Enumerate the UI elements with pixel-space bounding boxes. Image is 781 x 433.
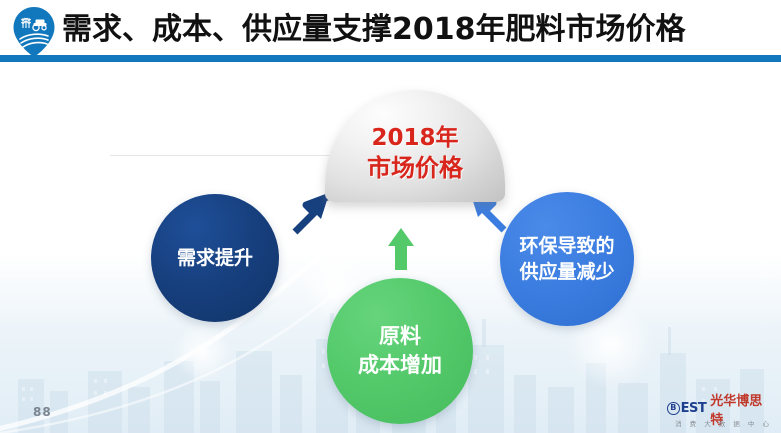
agriculture-map-pin-icon (12, 6, 56, 58)
brand-logo: B EST 光华博思特 消 费 大 数 据 中 心 (667, 400, 773, 427)
node-supply[interactable]: 环保导致的 供应量减少 (500, 192, 634, 326)
node-supply-label-1: 环保导致的 (519, 233, 614, 259)
node-supply-label-2: 供应量减少 (519, 259, 614, 285)
header-divider (0, 55, 781, 62)
dome-line-1: 2018年 (371, 123, 458, 153)
node-demand[interactable]: 需求提升 (151, 194, 279, 322)
page-title: 需求、成本、供应量支撑2018年肥料市场价格 (62, 8, 686, 52)
slide: 需求、成本、供应量支撑2018年肥料市场价格 (0, 0, 781, 433)
center-dome-shape: 2018年 市场价格 (325, 90, 505, 202)
slide-header: 需求、成本、供应量支撑2018年肥料市场价格 (0, 0, 781, 62)
node-cost-label-2: 成本增加 (358, 351, 442, 380)
dome-line-2: 市场价格 (367, 153, 463, 183)
node-cost[interactable]: 原料 成本增加 (327, 278, 473, 424)
node-cost-label-1: 原料 (379, 322, 421, 351)
page-number: 88 (33, 405, 52, 419)
center-dome-label: 2018年 市场价格 (325, 90, 505, 202)
brand-latin-text: EST (681, 401, 707, 416)
slide-body: 2018年 市场价格 需求提升 环保导致的 供应量减少 原料 成本增加 (0, 62, 781, 433)
decorative-hairline (110, 155, 345, 156)
node-demand-label: 需求提升 (177, 246, 253, 271)
arrow-up-icon (386, 226, 416, 272)
brand-subtitle: 消 费 大 数 据 中 心 (667, 418, 773, 428)
brand-b-mark: B (667, 402, 680, 415)
